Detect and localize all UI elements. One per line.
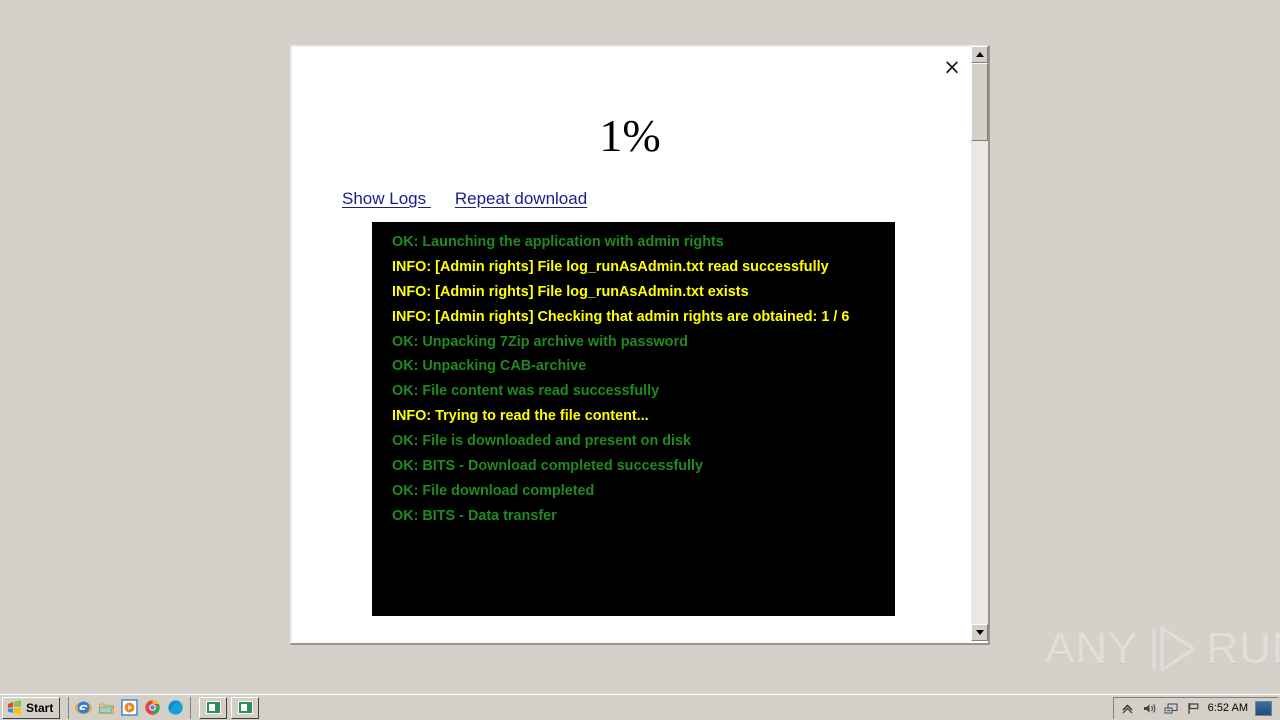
- volume-icon[interactable]: [1142, 701, 1157, 716]
- log-line: OK: File is downloaded and present on di…: [372, 429, 895, 454]
- scroll-up-arrow-glyph: [976, 52, 984, 57]
- log-line: INFO: [Admin rights] File log_runAsAdmin…: [372, 255, 895, 280]
- log-line: OK: BITS - Data transfer: [372, 504, 895, 529]
- start-button-label: Start: [26, 701, 53, 715]
- show-hidden-icons-icon[interactable]: [1120, 701, 1135, 716]
- dialog-links-row: Show Logs Repeat download: [342, 189, 587, 209]
- file-explorer-icon[interactable]: [98, 699, 115, 716]
- log-line: OK: Unpacking CAB-archive: [372, 354, 895, 379]
- network-icon[interactable]: [1164, 701, 1179, 716]
- flag-action-center-icon[interactable]: [1186, 701, 1201, 716]
- log-line: INFO: Trying to read the file content...: [372, 404, 895, 429]
- window-thumbnail-icon: [206, 701, 221, 714]
- taskbar-window-button-2[interactable]: [231, 697, 259, 719]
- log-line: INFO: [Admin rights] Checking that admin…: [372, 305, 895, 330]
- taskbar-window-buttons: [199, 697, 259, 719]
- close-icon[interactable]: ×: [942, 57, 962, 77]
- taskbar-window-button-1[interactable]: [199, 697, 227, 719]
- repeat-download-link[interactable]: Repeat download: [455, 189, 587, 209]
- media-player-icon[interactable]: [121, 699, 138, 716]
- log-console[interactable]: OK: Launching the application with admin…: [372, 222, 895, 616]
- vertical-scrollbar[interactable]: [971, 46, 988, 641]
- quick-launch-bar: [68, 697, 191, 719]
- download-progress-window: × 1% Show Logs Repeat download OK: Launc…: [290, 45, 990, 645]
- microsoft-edge-icon[interactable]: [167, 699, 184, 716]
- progress-percent-label: 1%: [292, 113, 968, 159]
- dialog-client-area: × 1% Show Logs Repeat download OK: Launc…: [292, 47, 968, 642]
- window-thumbnail-icon: [238, 701, 253, 714]
- log-line: INFO: [Admin rights] File log_runAsAdmin…: [372, 280, 895, 305]
- anyrun-watermark: ANY RUN: [1045, 618, 1255, 680]
- show-desktop-icon[interactable]: [1255, 701, 1272, 716]
- play-triangle-icon: [1144, 623, 1200, 675]
- log-line: OK: File content was read successfully: [372, 379, 895, 404]
- log-line: OK: Unpacking 7Zip archive with password: [372, 330, 895, 355]
- google-chrome-icon[interactable]: [144, 699, 161, 716]
- scrollbar-track[interactable]: [971, 63, 988, 624]
- scroll-down-icon[interactable]: [971, 624, 988, 641]
- internet-explorer-icon[interactable]: [75, 699, 92, 716]
- taskbar: Start: [0, 694, 1280, 720]
- log-line: OK: File download completed: [372, 479, 895, 504]
- show-logs-link[interactable]: Show Logs: [342, 189, 431, 209]
- scroll-down-arrow-glyph: [976, 630, 984, 635]
- log-line: OK: Launching the application with admin…: [372, 230, 895, 255]
- watermark-run-text: RUN: [1206, 627, 1280, 671]
- windows-flag-icon: [6, 699, 23, 716]
- log-line: OK: BITS - Download completed successful…: [372, 454, 895, 479]
- system-tray: 6:52 AM: [1113, 697, 1278, 719]
- watermark-any-text: ANY: [1045, 627, 1138, 671]
- start-button[interactable]: Start: [2, 697, 60, 719]
- tray-clock[interactable]: 6:52 AM: [1208, 702, 1248, 714]
- scroll-up-icon[interactable]: [971, 46, 988, 63]
- scrollbar-thumb[interactable]: [971, 63, 988, 141]
